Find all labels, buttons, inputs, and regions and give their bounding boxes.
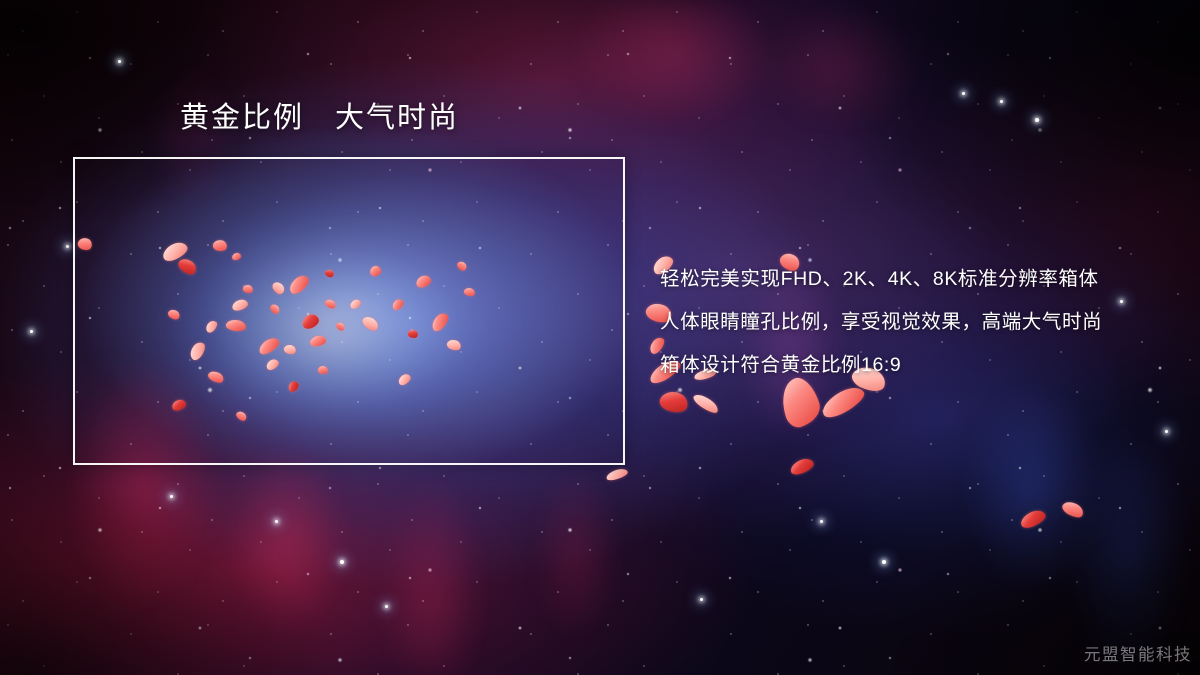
feature-line-2: 人体眼睛瞳孔比例，享受视觉效果，高端大气时尚 <box>660 301 1102 344</box>
flower-petal <box>691 391 720 416</box>
bright-star <box>30 330 33 333</box>
bright-star <box>1000 100 1003 103</box>
feature-line-3: 箱体设计符合黄金比例16:9 <box>660 344 1102 387</box>
page-title: 黄金比例 大气时尚 <box>180 100 459 136</box>
feature-line-1: 轻松完美实现FHD、2K、4K、8K标准分辨率箱体 <box>660 258 1102 301</box>
bright-star <box>66 245 69 248</box>
bright-star <box>118 60 121 63</box>
bright-star <box>700 598 703 601</box>
presentation-slide: 黄金比例 大气时尚 轻松完美实现FHD、2K、4K、8K标准分辨率箱体 人体眼睛… <box>0 0 1200 675</box>
flower-petal <box>1060 498 1086 520</box>
feature-description: 轻松完美实现FHD、2K、4K、8K标准分辨率箱体 人体眼睛瞳孔比例，享受视觉效… <box>660 258 1102 387</box>
bright-star <box>1165 430 1168 433</box>
bright-star <box>820 520 823 523</box>
bright-star <box>882 560 886 564</box>
flower-petal <box>605 467 629 482</box>
bright-star <box>962 92 965 95</box>
bright-star <box>1035 118 1039 122</box>
flower-petal <box>789 456 816 476</box>
flower-petal <box>658 388 691 416</box>
bright-star <box>340 560 344 564</box>
bright-star <box>170 495 173 498</box>
company-watermark: 元盟智能科技 <box>1084 641 1192 665</box>
image-frame <box>73 157 625 465</box>
bright-star <box>385 605 388 608</box>
flower-petal <box>818 382 868 421</box>
flower-petal <box>1018 508 1047 531</box>
bright-star <box>1120 300 1123 303</box>
bright-star <box>275 520 278 523</box>
